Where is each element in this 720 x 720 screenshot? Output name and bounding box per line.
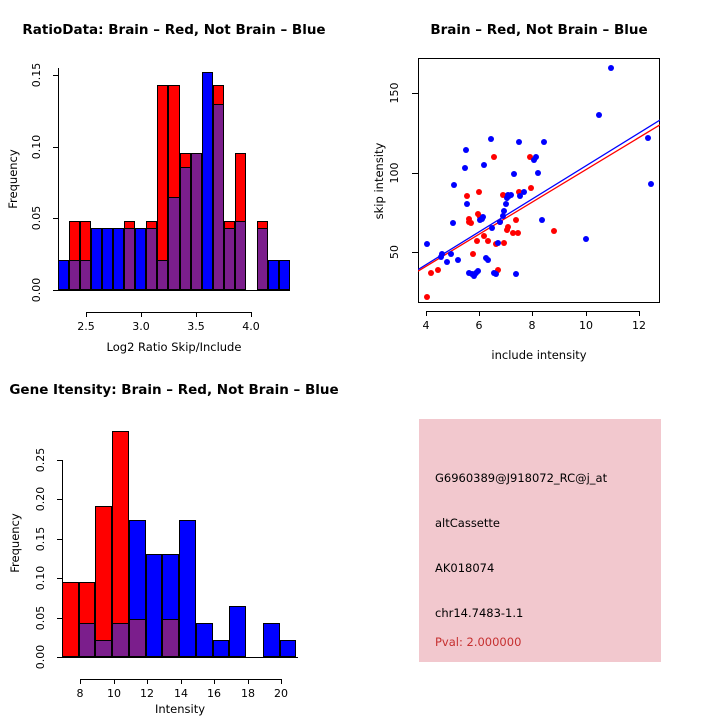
scatter-point <box>475 268 481 274</box>
gene-hist-xtick <box>248 679 249 684</box>
scatter-xticklabel: 8 <box>502 319 562 332</box>
scatter-point <box>648 181 654 187</box>
histogram-bar <box>263 623 280 657</box>
info-locus: chr14.7483-1.1 <box>435 606 523 620</box>
scatter-data-layer <box>418 58 660 303</box>
scatter-xtick <box>639 311 640 316</box>
histogram-bar <box>279 260 290 290</box>
histogram-bar-overlap <box>129 619 146 657</box>
scatter-point <box>435 267 441 273</box>
histogram-bar <box>268 260 279 290</box>
histogram-bar-overlap <box>191 153 202 290</box>
gene-hist-title: Gene Itensity: Brain – Red, Not Brain – … <box>0 382 424 398</box>
gene-hist-ytick <box>57 539 62 540</box>
gene-hist-baseline <box>62 657 298 658</box>
ratio-hist-yticklabel: 0.00 <box>30 268 43 312</box>
gene-hist-yticklabel: 0.20 <box>34 477 47 521</box>
scatter-xtick <box>479 311 480 316</box>
scatter-point <box>535 170 541 176</box>
scatter-yticklabel: 100 <box>388 151 401 195</box>
scatter-title: Brain – Red, Not Brain – Blue <box>289 22 720 38</box>
info-pval: Pval: 2.000000 <box>435 635 521 649</box>
histogram-bar <box>196 623 213 657</box>
gene-hist-ytick <box>57 460 62 461</box>
gene-hist-ytick <box>57 499 62 500</box>
ratio-hist-xtick <box>141 312 142 317</box>
scatter-xticklabel: 10 <box>556 319 616 332</box>
gene-hist-yticklabel: 0.10 <box>34 556 47 600</box>
scatter-fit-lines <box>418 58 660 303</box>
gene-hist-yticklabel: 0.15 <box>34 517 47 561</box>
histogram-bar <box>62 582 79 657</box>
gene-hist-xtick <box>80 679 81 684</box>
info-probe-id: G6960389@J918072_RC@j_at <box>435 471 607 485</box>
histogram-bar <box>229 606 246 657</box>
histogram-bar <box>58 260 69 290</box>
scatter-point <box>583 236 589 242</box>
histogram-bar-overlap <box>95 640 112 657</box>
scatter-point <box>424 294 430 300</box>
histogram-bar-overlap <box>69 260 80 290</box>
scatter-point <box>608 65 614 71</box>
histogram-bar-overlap <box>79 623 96 657</box>
ratio-hist-xtick <box>251 312 252 317</box>
scatter-point <box>516 139 522 145</box>
scatter-point <box>508 192 514 198</box>
ratio-hist-yticklabel: 0.10 <box>30 125 43 169</box>
histogram-bar <box>202 72 213 290</box>
histogram-bar-overlap <box>80 260 91 290</box>
scatter-point <box>444 259 450 265</box>
ratio-hist-baseline <box>58 290 290 291</box>
histogram-bar <box>95 506 112 657</box>
histogram-bar-overlap <box>112 623 129 657</box>
gene-hist-ylabel: Frequency <box>8 483 22 603</box>
histogram-bar <box>135 228 146 290</box>
ratio-hist-yaxis <box>58 68 59 291</box>
histogram-bar-overlap <box>235 221 246 290</box>
histogram-bar-overlap <box>146 228 157 290</box>
scatter-xticklabel: 12 <box>609 319 669 332</box>
scatter-ylabel: skip intensity <box>372 121 386 241</box>
ratio-hist-yticklabel: 0.15 <box>30 53 43 97</box>
scatter-xtick <box>532 311 533 316</box>
gene-hist-ytick <box>57 578 62 579</box>
gene-hist-xlabel: Intensity <box>30 702 330 716</box>
scatter-point <box>439 251 445 257</box>
histogram-bar-overlap <box>257 228 268 290</box>
ratio-hist-ytick <box>53 75 58 76</box>
scatter-point <box>533 154 539 160</box>
scatter-point <box>515 230 521 236</box>
figure-canvas: RatioData: Brain – Red, Not Brain – Blue… <box>0 0 720 720</box>
histogram-bar <box>213 640 230 657</box>
scatter-point <box>645 135 651 141</box>
ratio-hist-xticklabel: 4.0 <box>221 320 281 333</box>
gene-hist-xticklabel: 20 <box>251 687 311 700</box>
gene-info-panel: G6960389@J918072_RC@j_ataltCassetteAK018… <box>419 419 661 662</box>
gene-hist-xtick <box>181 679 182 684</box>
histogram-bar <box>146 554 163 657</box>
ratio-hist-xaxis <box>86 312 252 313</box>
scatter-yticklabel: 150 <box>388 71 401 115</box>
ratio-hist-xticklabel: 2.5 <box>56 320 116 333</box>
info-event-type: altCassette <box>435 516 500 530</box>
ratio-hist-xtick <box>196 312 197 317</box>
scatter-point <box>462 165 468 171</box>
ratio-hist-ytick <box>53 147 58 148</box>
histogram-bar-overlap <box>224 228 235 290</box>
scatter-point <box>495 240 501 246</box>
histogram-bar <box>280 640 297 657</box>
scatter-xtick <box>426 311 427 316</box>
info-accession: AK018074 <box>435 561 494 575</box>
gene-hist-xtick <box>214 679 215 684</box>
scatter-point <box>474 238 480 244</box>
gene-hist-yticklabel: 0.05 <box>34 596 47 640</box>
scatter-xlabel: include intensity <box>389 348 689 362</box>
scatter-point <box>501 240 507 246</box>
histogram-bar <box>179 520 196 657</box>
fit-line-blue-fit <box>418 120 660 270</box>
ratio-hist-yticklabel: 0.05 <box>30 196 43 240</box>
fit-line-red-fit <box>418 125 660 271</box>
scatter-xticklabel: 6 <box>449 319 509 332</box>
gene-hist-xtick <box>114 679 115 684</box>
histogram-bar <box>102 228 113 290</box>
histogram-bar-overlap <box>124 228 135 290</box>
histogram-bar-overlap <box>168 197 179 290</box>
ratio-hist-xlabel: Log2 Ratio Skip/Include <box>24 340 324 354</box>
gene-hist-xtick <box>147 679 148 684</box>
ratio-hist-ylabel: Frequency <box>6 119 20 239</box>
histogram-bar <box>113 228 124 290</box>
scatter-yticklabel: 50 <box>388 230 401 274</box>
scatter-point <box>476 189 482 195</box>
gene-hist-xtick <box>281 679 282 684</box>
gene-hist-yticklabel: 0.25 <box>34 438 47 482</box>
gene-hist-yticklabel: 0.00 <box>34 635 47 679</box>
scatter-point <box>511 171 517 177</box>
ratio-hist-xticklabel: 3.5 <box>166 320 226 333</box>
histogram-bar-overlap <box>157 260 168 290</box>
ratio-hist-xtick <box>86 312 87 317</box>
histogram-bar-overlap <box>162 619 179 657</box>
scatter-point <box>539 217 545 223</box>
scatter-point <box>470 251 476 257</box>
scatter-point <box>455 257 461 263</box>
ratio-hist-ytick <box>53 218 58 219</box>
scatter-xticklabel: 4 <box>396 319 456 332</box>
scatter-xtick <box>586 311 587 316</box>
histogram-bar-overlap <box>213 104 224 290</box>
histogram-bar-overlap <box>180 167 191 290</box>
scatter-point <box>448 251 454 257</box>
scatter-point <box>491 154 497 160</box>
scatter-point <box>521 189 527 195</box>
ratio-hist-xticklabel: 3.0 <box>111 320 171 333</box>
histogram-bar <box>91 228 102 290</box>
